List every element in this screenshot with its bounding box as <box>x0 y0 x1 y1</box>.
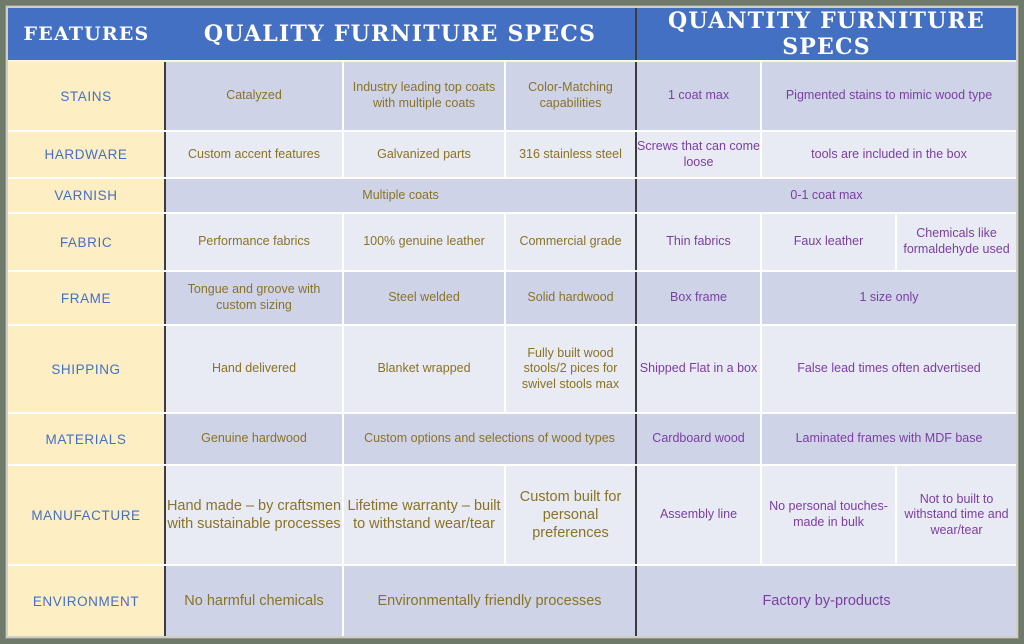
quality-cell: Solid hardwood <box>505 271 636 325</box>
table-row: MATERIALS Genuine hardwood Custom option… <box>8 413 1016 465</box>
quality-cell: Genuine hardwood <box>165 413 343 465</box>
quality-cell: Multiple coats <box>165 178 636 213</box>
feature-label-stains: STAINS <box>8 61 165 131</box>
table-row: ENVIRONMENT No harmful chemicals Environ… <box>8 565 1016 636</box>
quality-cell: Fully built wood stools/2 pices for swiv… <box>505 325 636 413</box>
feature-label-fabric: FABRIC <box>8 213 165 271</box>
header-quality-furniture-specs: QUALITY FURNITURE SPECS <box>165 8 636 61</box>
quantity-cell: Screws that can come loose <box>636 131 761 178</box>
header-quantity-furniture-specs: QUANTITY FURNITURE SPECS <box>636 8 1016 61</box>
table-row: MANUFACTURE Hand made – by craftsmen wit… <box>8 465 1016 565</box>
quality-cell: Environmentally friendly processes <box>343 565 636 636</box>
quantity-cell: Assembly line <box>636 465 761 565</box>
quantity-cell: Laminated frames with MDF base <box>761 413 1016 465</box>
quantity-cell: Factory by-products <box>636 565 1016 636</box>
quantity-cell: No personal touches-made in bulk <box>761 465 896 565</box>
quality-cell: Custom built for personal preferences <box>505 465 636 565</box>
quality-cell: Color-Matching capabilities <box>505 61 636 131</box>
quantity-cell: Faux leather <box>761 213 896 271</box>
quality-cell: Hand made – by craftsmen with sustainabl… <box>165 465 343 565</box>
quantity-cell: tools are included in the box <box>761 131 1016 178</box>
header-features: FEATURES <box>8 8 165 61</box>
table-row: SHIPPING Hand delivered Blanket wrapped … <box>8 325 1016 413</box>
feature-label-varnish: VARNISH <box>8 178 165 213</box>
quality-cell: Custom accent features <box>165 131 343 178</box>
quality-cell: Hand delivered <box>165 325 343 413</box>
quality-cell: Catalyzed <box>165 61 343 131</box>
table-row: FRAME Tongue and groove with custom sizi… <box>8 271 1016 325</box>
quality-cell: Steel welded <box>343 271 505 325</box>
comparison-table-frame: FEATURES QUALITY FURNITURE SPECS QUANTIT… <box>6 6 1018 638</box>
quantity-cell: 1 size only <box>761 271 1016 325</box>
quantity-cell: False lead times often advertised <box>761 325 1016 413</box>
quality-cell: 100% genuine leather <box>343 213 505 271</box>
quantity-cell: Cardboard wood <box>636 413 761 465</box>
quality-cell: Custom options and selections of wood ty… <box>343 413 636 465</box>
furniture-specs-table: FEATURES QUALITY FURNITURE SPECS QUANTIT… <box>8 8 1016 636</box>
table-body: STAINS Catalyzed Industry leading top co… <box>8 61 1016 636</box>
table-row: FABRIC Performance fabrics 100% genuine … <box>8 213 1016 271</box>
quantity-cell: Box frame <box>636 271 761 325</box>
comparison-table: FEATURES QUALITY FURNITURE SPECS QUANTIT… <box>8 8 1016 636</box>
table-row: STAINS Catalyzed Industry leading top co… <box>8 61 1016 131</box>
quality-cell: Tongue and groove with custom sizing <box>165 271 343 325</box>
quality-cell: Galvanized parts <box>343 131 505 178</box>
quality-cell: Lifetime warranty – built to withstand w… <box>343 465 505 565</box>
table-row: HARDWARE Custom accent features Galvaniz… <box>8 131 1016 178</box>
quantity-cell: Thin fabrics <box>636 213 761 271</box>
header-row: FEATURES QUALITY FURNITURE SPECS QUANTIT… <box>8 8 1016 61</box>
table-header: FEATURES QUALITY FURNITURE SPECS QUANTIT… <box>8 8 1016 61</box>
quality-cell: Commercial grade <box>505 213 636 271</box>
feature-label-materials: MATERIALS <box>8 413 165 465</box>
quantity-cell: 0-1 coat max <box>636 178 1016 213</box>
quantity-cell: Not to built to withstand time and wear/… <box>896 465 1016 565</box>
quantity-cell: 1 coat max <box>636 61 761 131</box>
feature-label-hardware: HARDWARE <box>8 131 165 178</box>
quantity-cell: Pigmented stains to mimic wood type <box>761 61 1016 131</box>
feature-label-shipping: SHIPPING <box>8 325 165 413</box>
table-row: VARNISH Multiple coats 0-1 coat max <box>8 178 1016 213</box>
feature-label-manufacture: MANUFACTURE <box>8 465 165 565</box>
quality-cell: No harmful chemicals <box>165 565 343 636</box>
quantity-cell: Shipped Flat in a box <box>636 325 761 413</box>
quality-cell: Industry leading top coats with multiple… <box>343 61 505 131</box>
quality-cell: 316 stainless steel <box>505 131 636 178</box>
quantity-cell: Chemicals like formaldehyde used <box>896 213 1016 271</box>
quality-cell: Blanket wrapped <box>343 325 505 413</box>
feature-label-frame: FRAME <box>8 271 165 325</box>
quality-cell: Performance fabrics <box>165 213 343 271</box>
feature-label-environment: ENVIRONMENT <box>8 565 165 636</box>
